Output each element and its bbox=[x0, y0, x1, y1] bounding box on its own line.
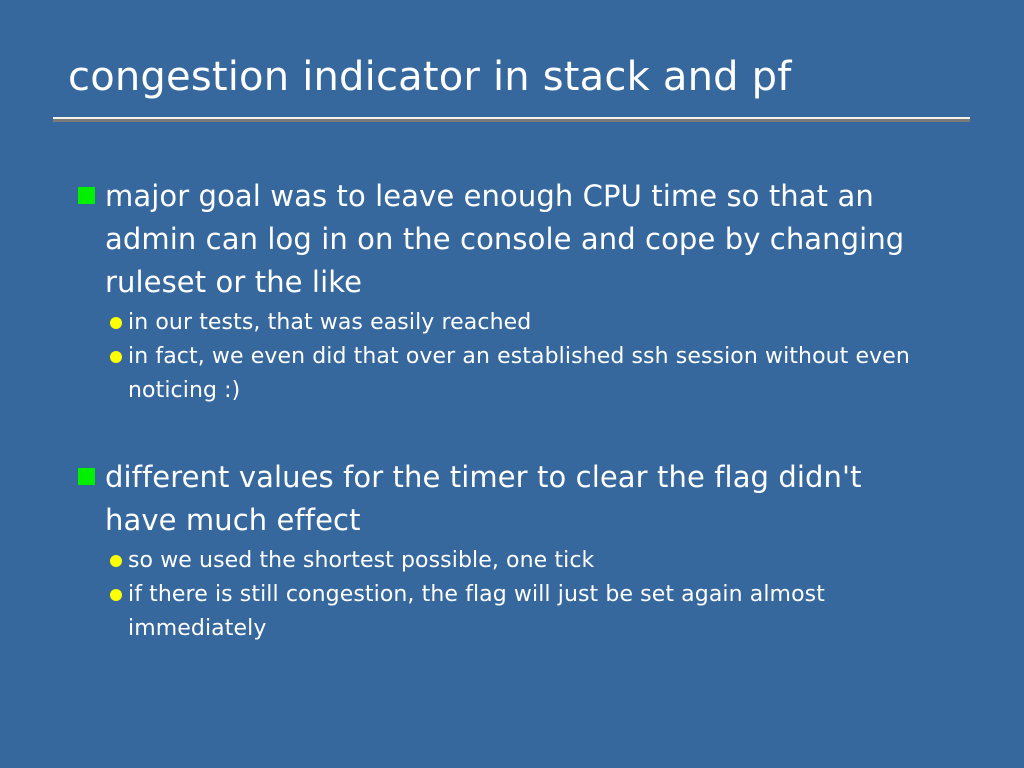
dot-bullet-icon bbox=[110, 555, 122, 567]
slide-body: major goal was to leave enough CPU time … bbox=[78, 175, 958, 646]
list-item-level1-label: major goal was to leave enough CPU time … bbox=[105, 175, 925, 304]
list-item-level2-label: in fact, we even did that over an establ… bbox=[128, 340, 928, 408]
list-item-level1-label: different values for the timer to clear … bbox=[105, 456, 925, 542]
dot-bullet-icon bbox=[110, 351, 122, 363]
bullet-group-2: different values for the timer to clear … bbox=[78, 456, 958, 646]
list-item-level2: in fact, we even did that over an establ… bbox=[78, 340, 958, 408]
slide: congestion indicator in stack and pf maj… bbox=[0, 0, 1024, 768]
title-underline-rule-shadow bbox=[53, 119, 970, 122]
list-item-level2: if there is still congestion, the flag w… bbox=[78, 578, 958, 646]
square-bullet-icon bbox=[78, 187, 95, 204]
list-item-level1: different values for the timer to clear … bbox=[78, 456, 958, 542]
list-item-level2-label: so we used the shortest possible, one ti… bbox=[128, 544, 928, 578]
sublist-1: in our tests, that was easily reached in… bbox=[78, 306, 958, 408]
dot-bullet-icon bbox=[110, 589, 122, 601]
list-item-level2: so we used the shortest possible, one ti… bbox=[78, 544, 958, 578]
title-block: congestion indicator in stack and pf bbox=[53, 52, 970, 102]
list-item-level1: major goal was to leave enough CPU time … bbox=[78, 175, 958, 304]
list-item-level2: in our tests, that was easily reached bbox=[78, 306, 958, 340]
sublist-2: so we used the shortest possible, one ti… bbox=[78, 544, 958, 646]
page-title: congestion indicator in stack and pf bbox=[53, 52, 970, 102]
bullet-group-1: major goal was to leave enough CPU time … bbox=[78, 175, 958, 408]
dot-bullet-icon bbox=[110, 317, 122, 329]
list-item-level2-label: if there is still congestion, the flag w… bbox=[128, 578, 928, 646]
list-item-level2-label: in our tests, that was easily reached bbox=[128, 306, 928, 340]
square-bullet-icon bbox=[78, 468, 95, 485]
